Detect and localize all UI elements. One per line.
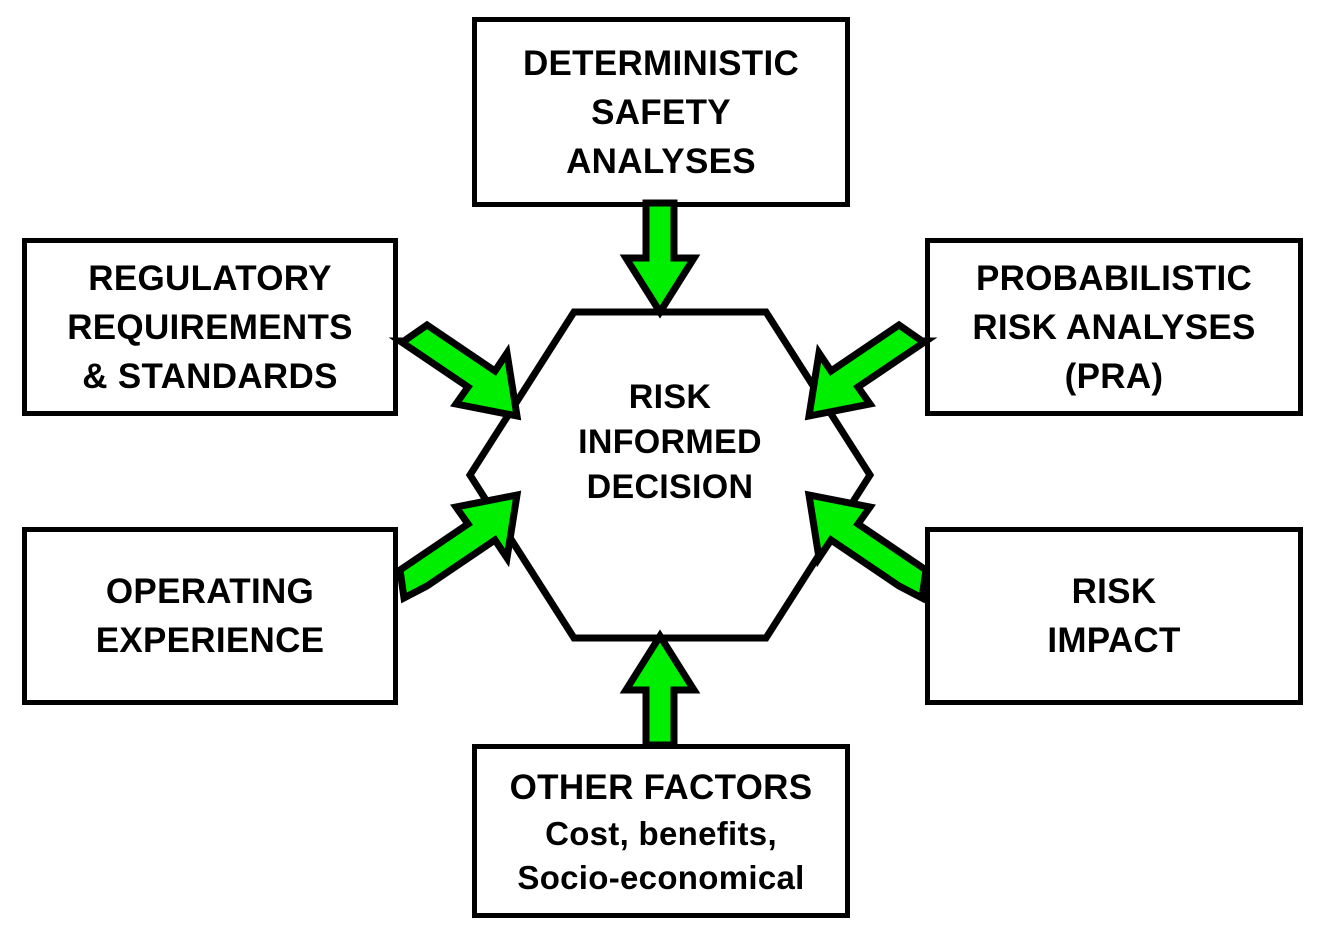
arrow-layer (0, 0, 1326, 931)
arrow-down-icon (626, 203, 694, 312)
arrow-up-icon (626, 636, 694, 745)
diagram-canvas: DETERMINISTIC SAFETY ANALYSES REGULATORY… (0, 0, 1326, 931)
arrow-down-right-icon (400, 325, 517, 416)
arrow-up-left-icon (809, 495, 926, 598)
arrow-down-left-icon (809, 325, 926, 416)
arrow-up-right-icon (400, 495, 517, 598)
